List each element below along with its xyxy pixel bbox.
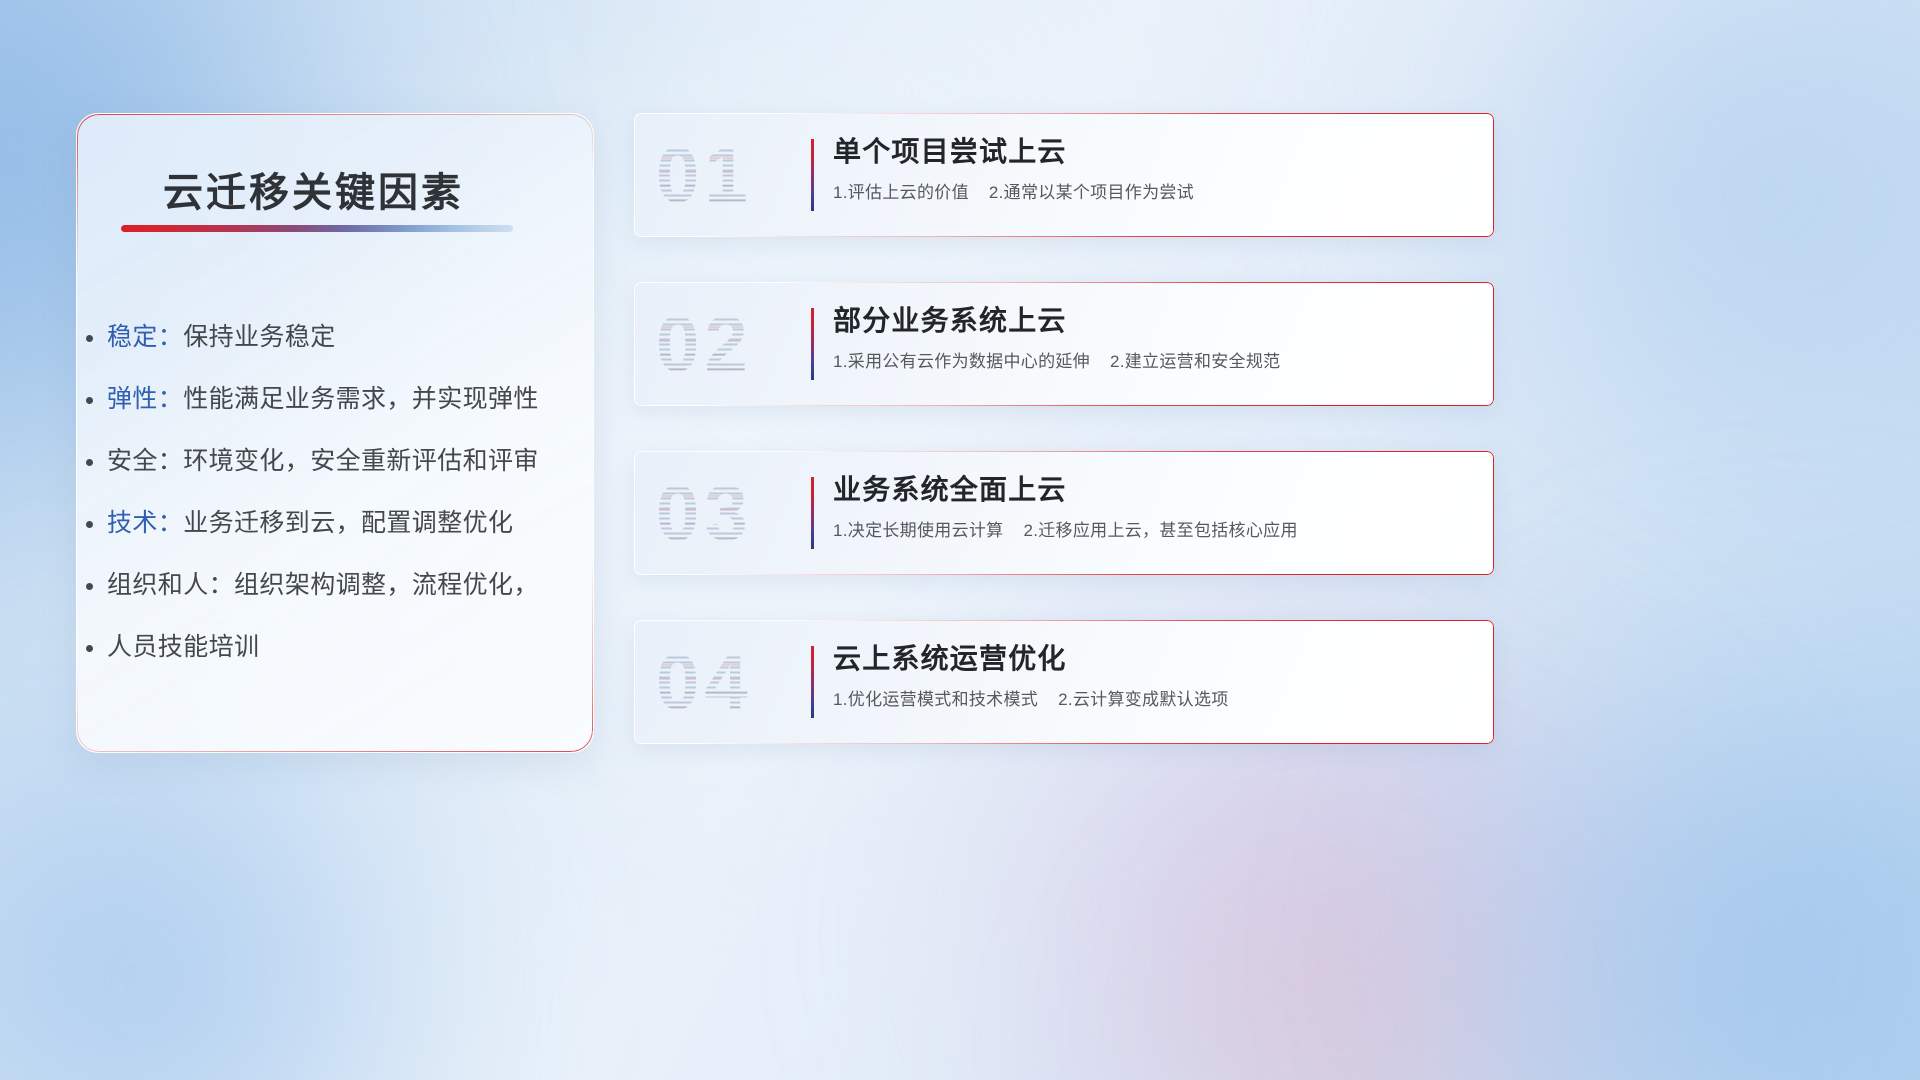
list-item-label: 弹性：	[107, 385, 183, 413]
list-item-text: 性能满足业务需求，并实现弹性	[183, 385, 539, 413]
list-item-label: 组织和人：	[107, 571, 234, 599]
list-item: 技术：业务迁移到云，配置调整优化	[107, 492, 569, 554]
card-subtitle: 1.决定长期使用云计算2.迁移应用上云，甚至包括核心应用	[833, 519, 1478, 543]
stage-number: 02	[656, 299, 753, 390]
stages-list: 01 01 单个项目尝试上云 1.评估上云的价值2.通常以某个项目作为尝试 02…	[634, 113, 1864, 789]
slide-stage: 云迁移关键因素 稳定：保持业务稳定 弹性：性能满足业务需求，并实现弹性 安全：环…	[0, 0, 1920, 1080]
card-subtitle: 1.评估上云的价值2.通常以某个项目作为尝试	[833, 181, 1478, 205]
list-item-label: 安全：	[107, 447, 183, 475]
stage-card-01[interactable]: 01 01 单个项目尝试上云 1.评估上云的价值2.通常以某个项目作为尝试	[634, 113, 1494, 237]
list-item-continuation: 人员技能培训	[107, 616, 569, 678]
card-point-2: 2.通常以某个项目作为尝试	[989, 183, 1194, 202]
card-subtitle: 1.采用公有云作为数据中心的延伸2.建立运营和安全规范	[833, 350, 1478, 374]
card-title: 业务系统全面上云	[833, 470, 1478, 510]
card-subtitle: 1.优化运营模式和技术模式2.云计算变成默认选项	[833, 688, 1478, 712]
card-divider-bar	[811, 139, 814, 211]
stage-card-04[interactable]: 04 04 云上系统运营优化 1.优化运营模式和技术模式2.云计算变成默认选项	[634, 620, 1494, 744]
list-item-text: 人员技能培训	[107, 633, 259, 661]
stage-card-03[interactable]: 03 03 业务系统全面上云 1.决定长期使用云计算2.迁移应用上云，甚至包括核…	[634, 451, 1494, 575]
stage-number: 03	[656, 468, 753, 559]
card-content: 业务系统全面上云 1.决定长期使用云计算2.迁移应用上云，甚至包括核心应用	[833, 470, 1478, 543]
title-underline-gradient	[121, 225, 513, 232]
card-divider-bar	[811, 477, 814, 549]
stage-card-02[interactable]: 02 02 部分业务系统上云 1.采用公有云作为数据中心的延伸2.建立运营和安全…	[634, 282, 1494, 406]
card-point-1: 1.决定长期使用云计算	[833, 521, 1003, 540]
card-divider-bar	[811, 308, 814, 380]
list-item-text: 环境变化，安全重新评估和评审	[183, 447, 539, 475]
list-item: 组织和人：组织架构调整，流程优化，	[107, 554, 569, 616]
list-item-text: 组织架构调整，流程优化，	[234, 571, 539, 599]
stage-number: 01	[656, 130, 753, 221]
card-point-2: 2.迁移应用上云，甚至包括核心应用	[1023, 521, 1297, 540]
key-factors-panel: 云迁移关键因素 稳定：保持业务稳定 弹性：性能满足业务需求，并实现弹性 安全：环…	[76, 113, 594, 753]
card-divider-bar	[811, 646, 814, 718]
card-content: 单个项目尝试上云 1.评估上云的价值2.通常以某个项目作为尝试	[833, 132, 1478, 205]
card-point-1: 1.采用公有云作为数据中心的延伸	[833, 352, 1090, 371]
list-item: 稳定：保持业务稳定	[107, 306, 569, 368]
key-factors-list: 稳定：保持业务稳定 弹性：性能满足业务需求，并实现弹性 安全：环境变化，安全重新…	[107, 306, 569, 678]
card-point-1: 1.优化运营模式和技术模式	[833, 690, 1038, 709]
card-point-2: 2.建立运营和安全规范	[1110, 352, 1280, 371]
list-item-text: 业务迁移到云，配置调整优化	[183, 509, 513, 537]
list-item: 安全：环境变化，安全重新评估和评审	[107, 430, 569, 492]
card-title: 部分业务系统上云	[833, 301, 1478, 341]
list-item: 弹性：性能满足业务需求，并实现弹性	[107, 368, 569, 430]
page-title: 云迁移关键因素	[163, 160, 464, 218]
card-content: 部分业务系统上云 1.采用公有云作为数据中心的延伸2.建立运营和安全规范	[833, 301, 1478, 374]
card-content: 云上系统运营优化 1.优化运营模式和技术模式2.云计算变成默认选项	[833, 639, 1478, 712]
list-item-label: 稳定：	[107, 323, 183, 351]
stage-number: 04	[656, 637, 753, 728]
list-item-text: 保持业务稳定	[183, 323, 335, 351]
card-point-1: 1.评估上云的价值	[833, 183, 969, 202]
list-item-label: 技术：	[107, 509, 183, 537]
card-point-2: 2.云计算变成默认选项	[1058, 690, 1228, 709]
card-title: 单个项目尝试上云	[833, 132, 1478, 172]
card-title: 云上系统运营优化	[833, 639, 1478, 679]
